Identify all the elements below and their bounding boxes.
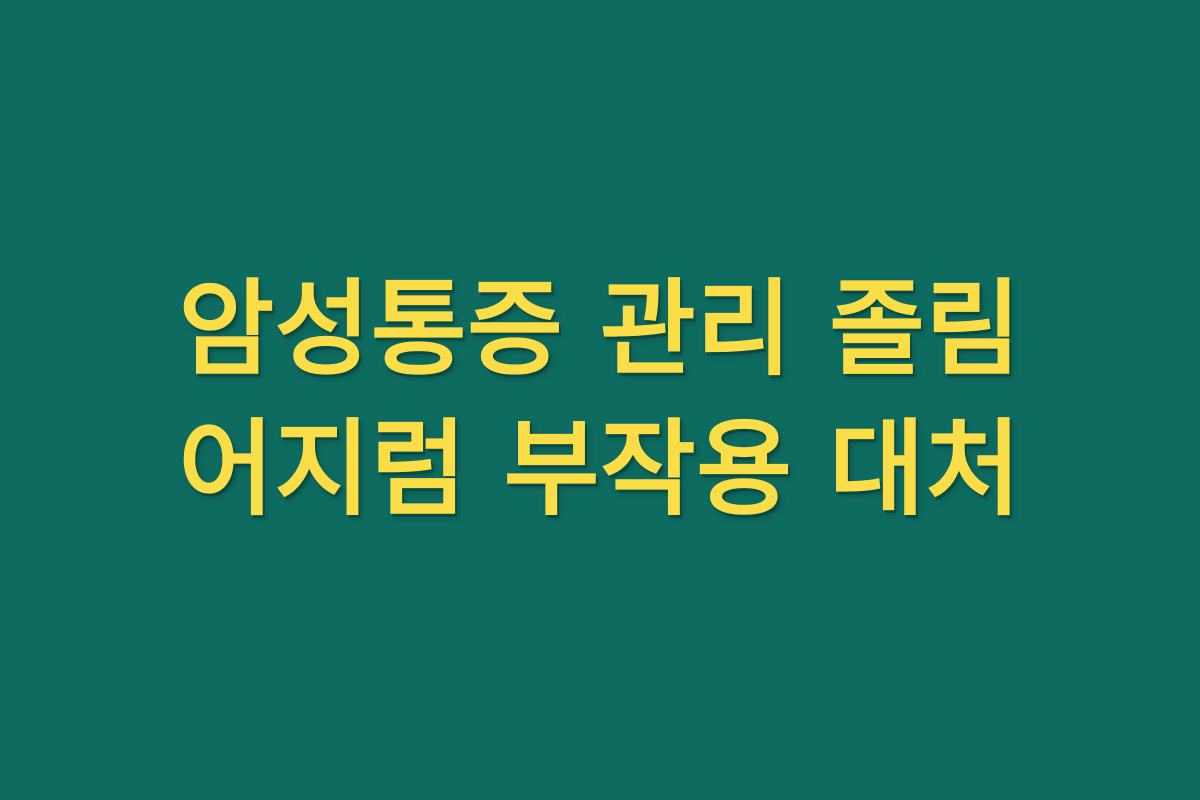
- page-title: 암성통증 관리 졸림 어지럼 부작용 대처: [80, 259, 1120, 539]
- thumbnail-canvas: 암성통증 관리 졸림 어지럼 부작용 대처: [0, 0, 1200, 800]
- title-block: 암성통증 관리 졸림 어지럼 부작용 대처: [80, 259, 1120, 539]
